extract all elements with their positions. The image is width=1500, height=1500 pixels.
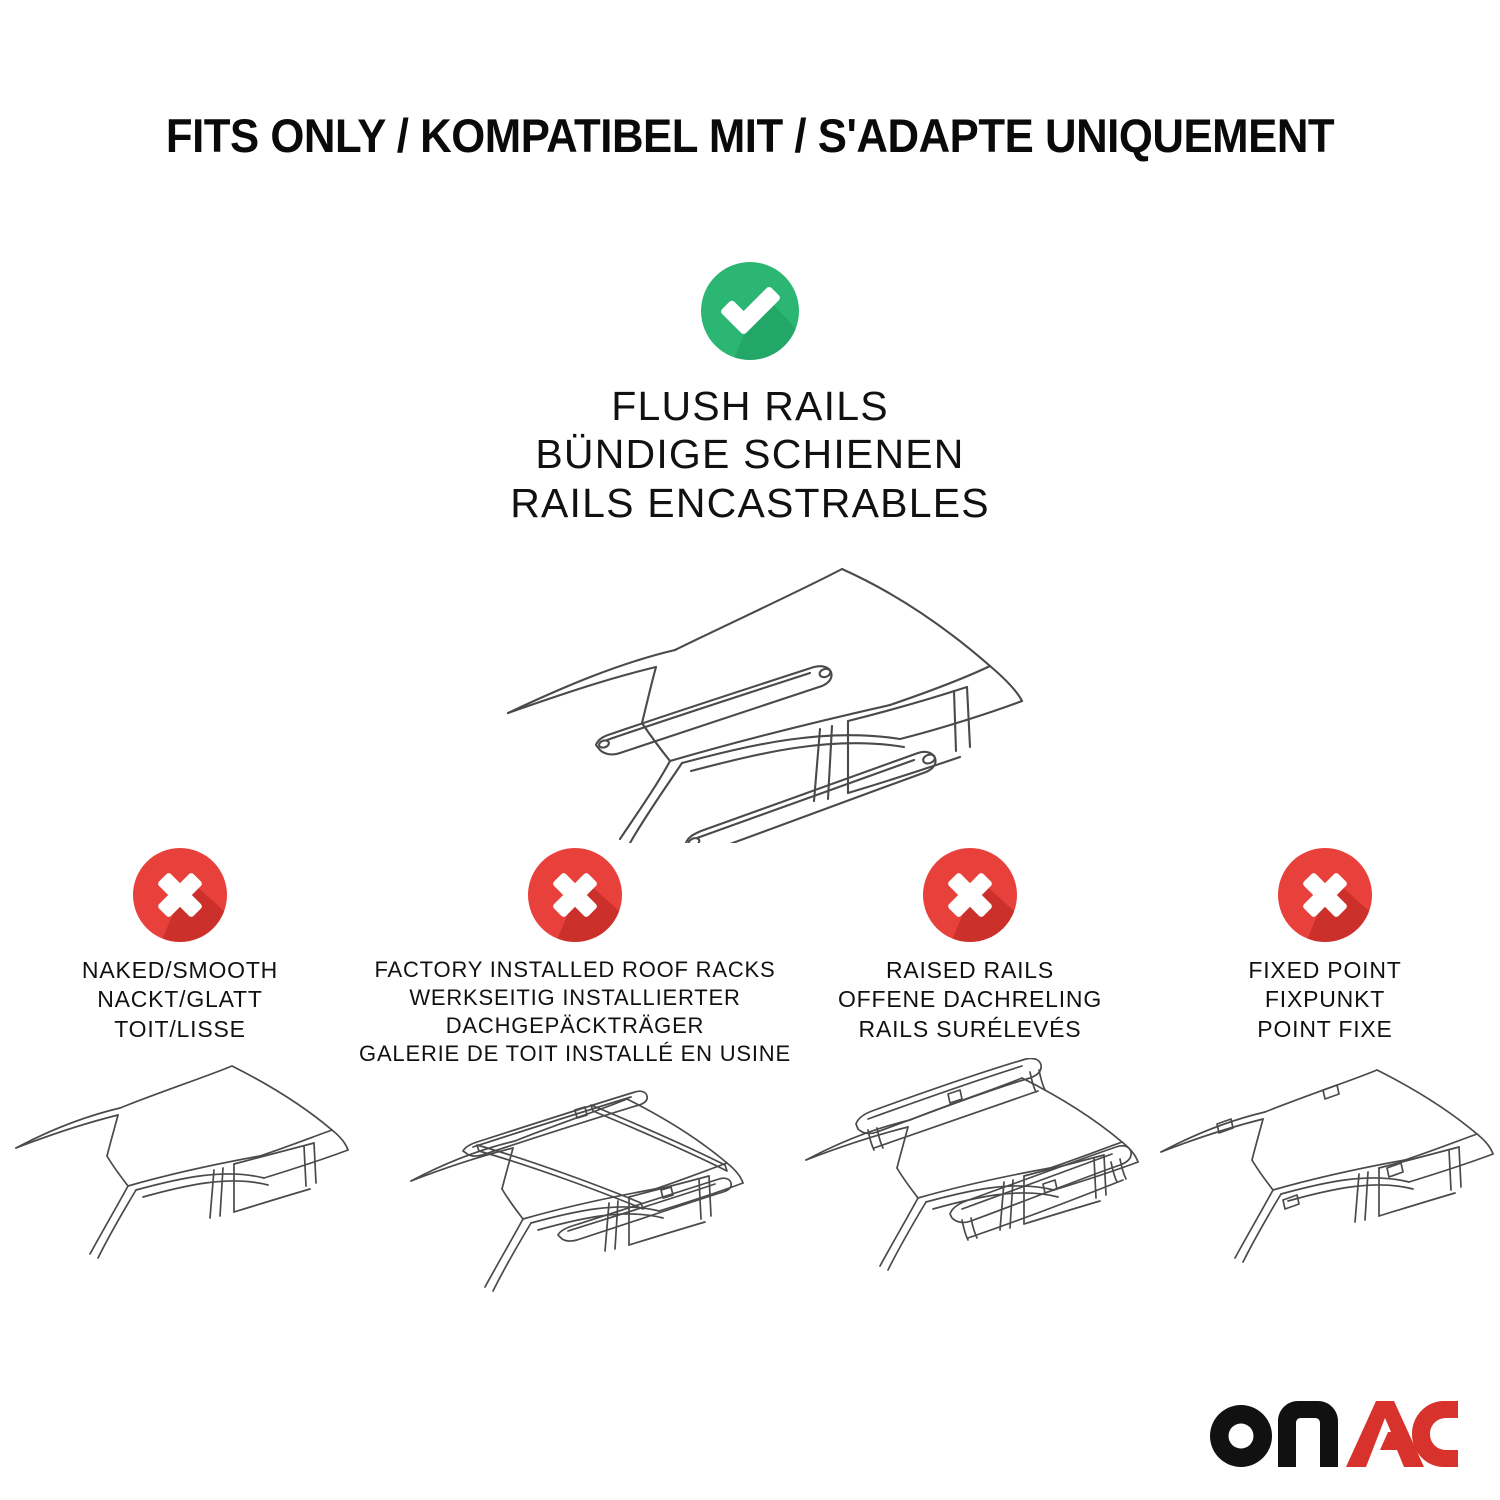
label-line-de: OFFENE DACHRELING: [838, 985, 1102, 1014]
incompatible-item-fixed-point: FIXED POINT FIXPUNKT POINT FIXE: [1150, 848, 1500, 1273]
compatible-label-line-de: BÜNDIGE SCHIENEN: [510, 430, 990, 478]
compatible-section: FLUSH RAILS BÜNDIGE SCHIENEN RAILS ENCAS…: [0, 262, 1500, 843]
label-line-en: RAISED RAILS: [838, 956, 1102, 985]
car-roof-naked-illustration: [10, 1058, 350, 1273]
car-roof-fixed-point-illustration: [1155, 1058, 1495, 1273]
incompatible-label: NAKED/SMOOTH NACKT/GLATT TOIT/LISSE: [82, 956, 278, 1044]
x-circle-icon: [923, 848, 1017, 942]
label-line-fr: RAILS SURÉLEVÉS: [838, 1015, 1102, 1044]
label-line-de-1: WERKSEITIG INSTALLIERTER: [359, 984, 791, 1012]
label-line-en: FACTORY INSTALLED ROOF RACKS: [359, 956, 791, 984]
incompatible-item-raised-rails: RAISED RAILS OFFENE DACHRELING RAILS SUR…: [790, 848, 1150, 1273]
incompatible-label: FACTORY INSTALLED ROOF RACKS WERKSEITIG …: [359, 956, 791, 1069]
incompatible-section: NAKED/SMOOTH NACKT/GLATT TOIT/LISSE: [0, 848, 1500, 1298]
label-line-fr: GALERIE DE TOIT INSTALLÉ EN USINE: [359, 1040, 791, 1068]
label-line-de: NACKT/GLATT: [82, 985, 278, 1014]
label-line-fr: TOIT/LISSE: [82, 1015, 278, 1044]
logo-letter-m: [1278, 1401, 1338, 1467]
logo-letter-o: [1210, 1405, 1272, 1467]
omac-logo: [1208, 1394, 1458, 1472]
compatible-label: FLUSH RAILS BÜNDIGE SCHIENEN RAILS ENCAS…: [510, 382, 990, 527]
car-roof-flush-rails-illustration: [470, 543, 1030, 843]
check-circle-icon: [701, 262, 799, 360]
incompatible-label: RAISED RAILS OFFENE DACHRELING RAILS SUR…: [838, 956, 1102, 1044]
label-line-de-2: DACHGEPÄCKTRÄGER: [359, 1012, 791, 1040]
label-line-fr: POINT FIXE: [1248, 1015, 1401, 1044]
car-roof-factory-racks-illustration: [403, 1083, 748, 1298]
x-circle-icon: [1278, 848, 1372, 942]
page-title: FITS ONLY / KOMPATIBEL MIT / S'ADAPTE UN…: [53, 108, 1448, 163]
compatible-label-line-en: FLUSH RAILS: [510, 382, 990, 430]
label-line-de: FIXPUNKT: [1248, 985, 1401, 1014]
label-line-en: FIXED POINT: [1248, 956, 1401, 985]
incompatible-item-factory-roof-racks: FACTORY INSTALLED ROOF RACKS WERKSEITIG …: [360, 848, 790, 1298]
x-circle-icon: [528, 848, 622, 942]
label-line-en: NAKED/SMOOTH: [82, 956, 278, 985]
compatible-label-line-fr: RAILS ENCASTRABLES: [510, 479, 990, 527]
x-circle-icon: [133, 848, 227, 942]
car-roof-raised-rails-illustration: [798, 1058, 1143, 1273]
incompatible-label: FIXED POINT FIXPUNKT POINT FIXE: [1248, 956, 1401, 1044]
incompatible-item-naked-smooth: NAKED/SMOOTH NACKT/GLATT TOIT/LISSE: [0, 848, 360, 1273]
